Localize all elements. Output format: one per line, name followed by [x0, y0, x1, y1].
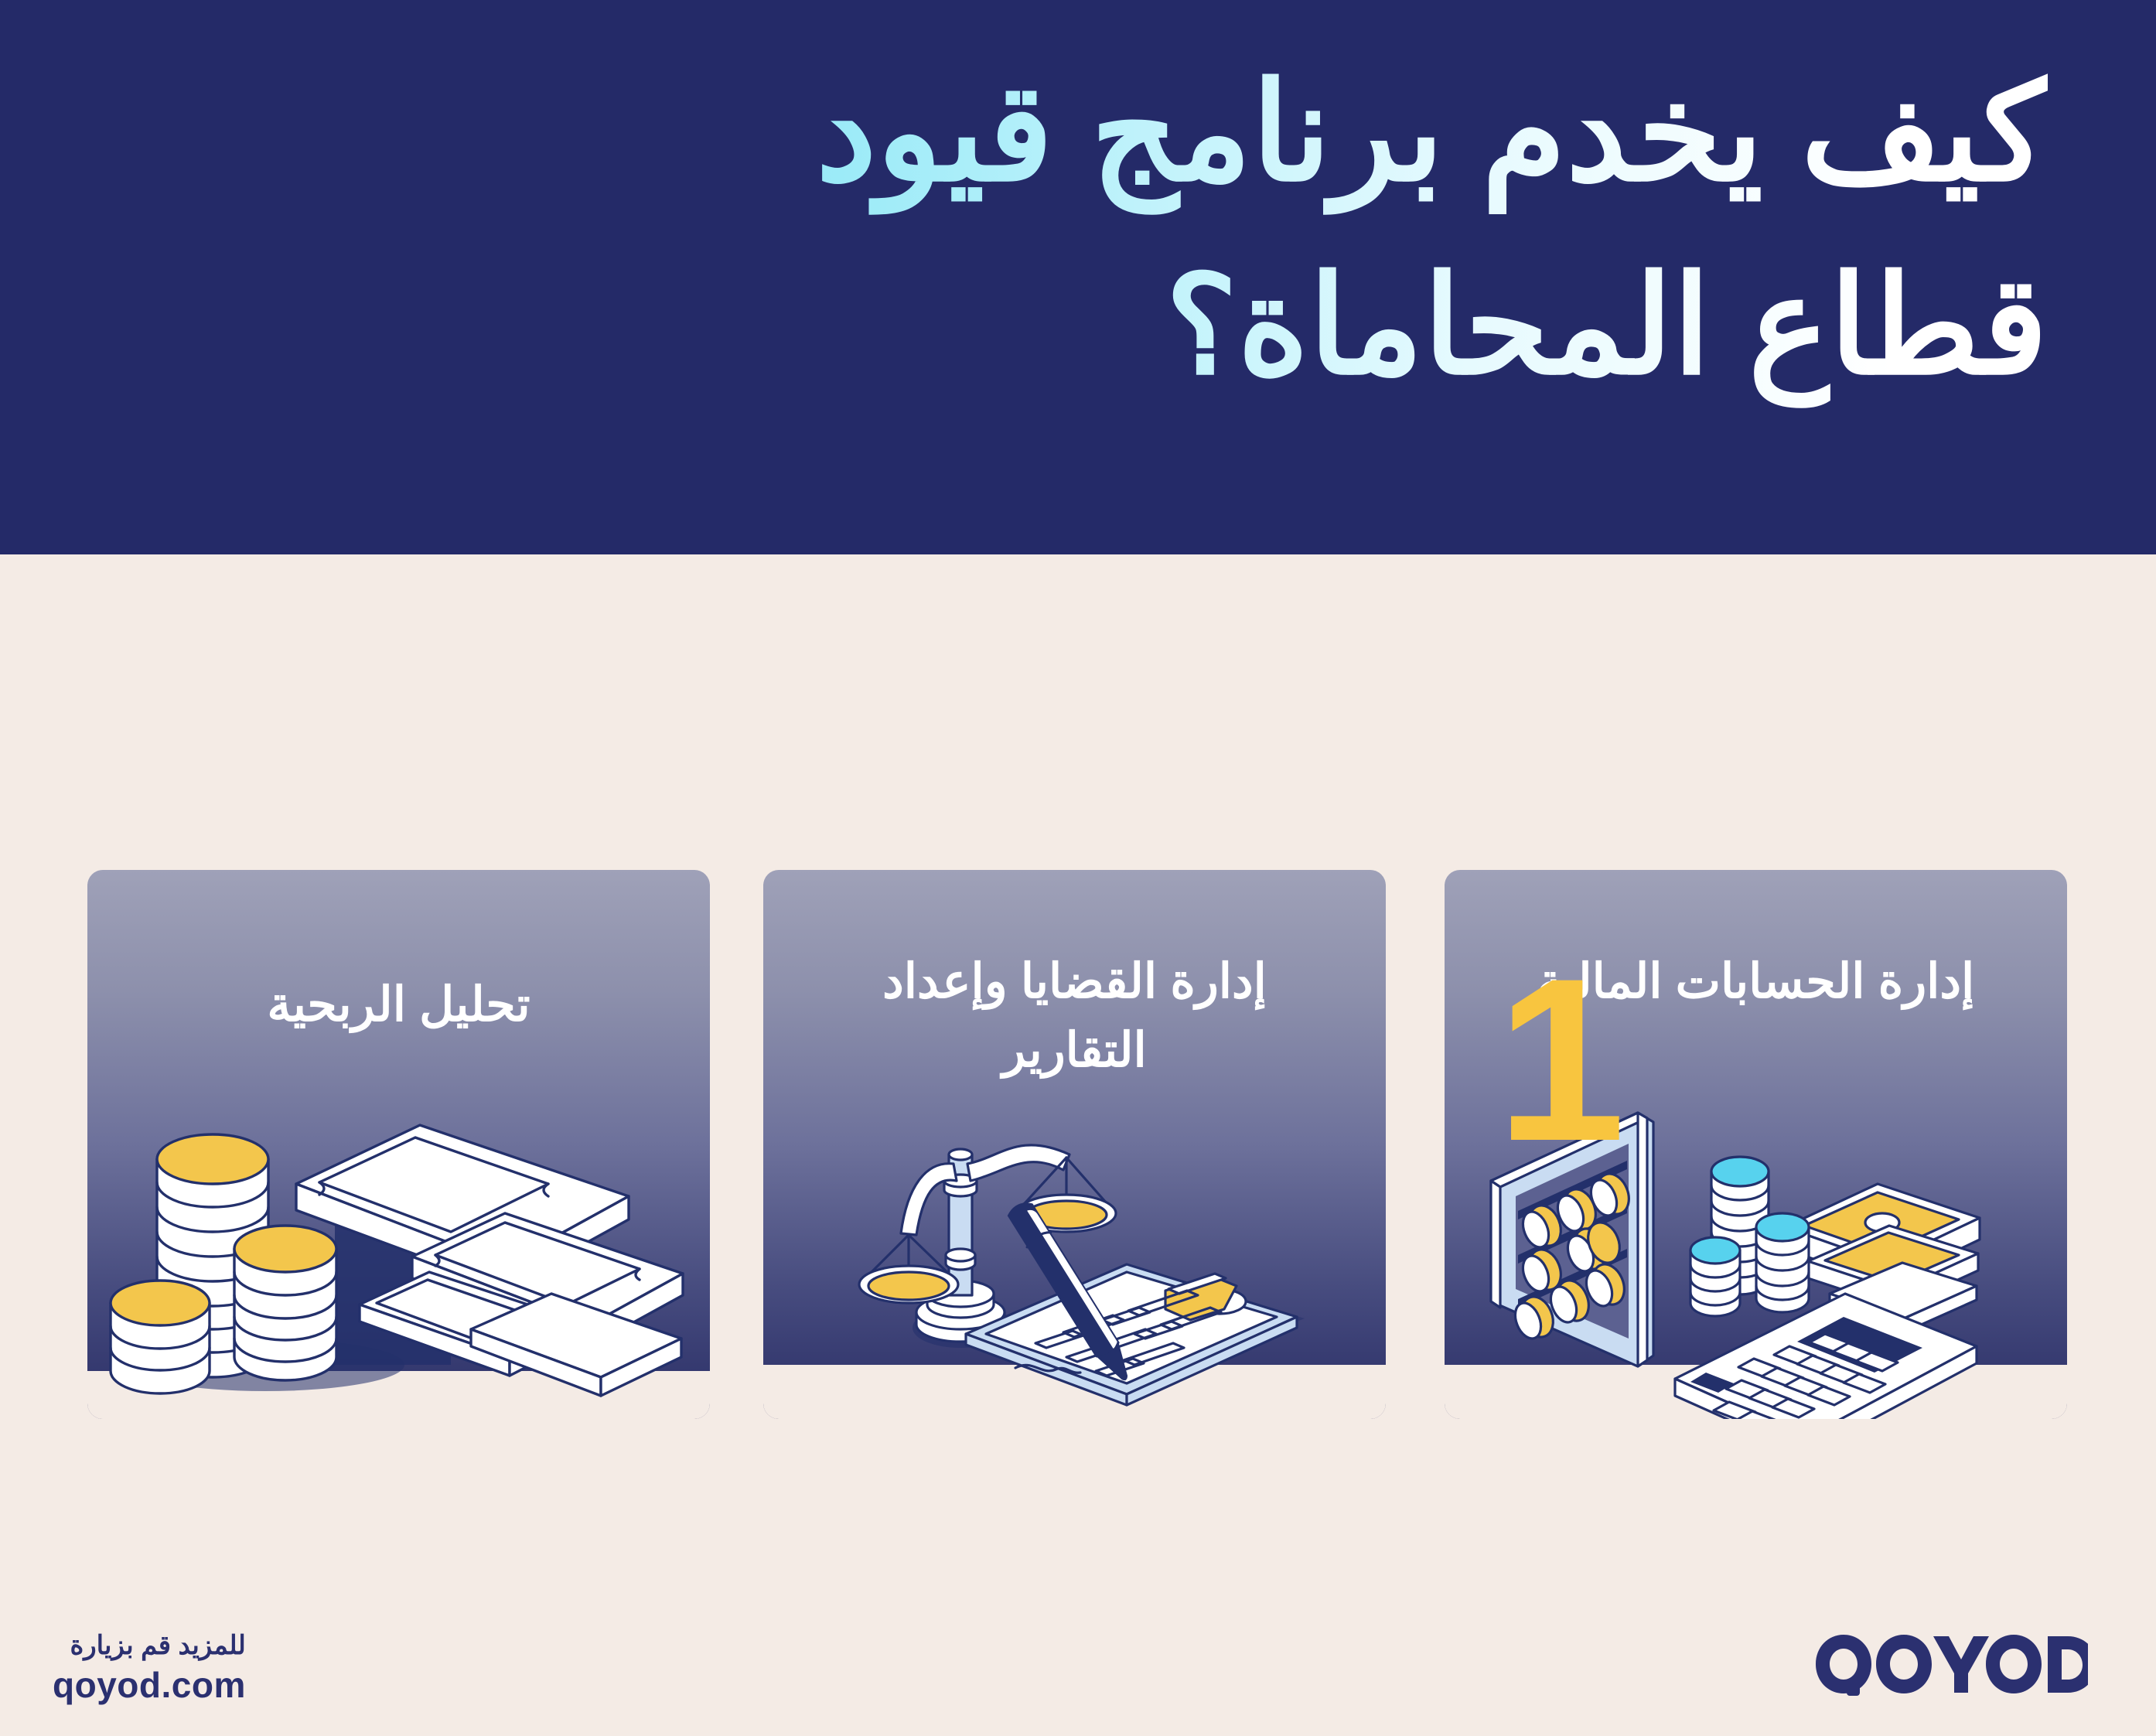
card-title-3: تحليل الربحية — [87, 970, 710, 1039]
feature-card-profitability-analysis[interactable]: تحليل الربحية .ln3{fill:none;stroke:#233… — [87, 870, 710, 1419]
card-title-2: إدارة القضايا وإعداد التقارير — [763, 947, 1386, 1086]
feature-card-case-management[interactable]: إدارة القضايا وإعداد التقارير .ln2{fill:… — [763, 870, 1386, 1419]
feature-card-financial-accounts[interactable]: إدارة الحسابات المالية .ln{fill:none;str… — [1445, 870, 2067, 1419]
cards-container: إدارة الحسابات المالية .ln{fill:none;str… — [0, 554, 2156, 1736]
card-number-1: 1 — [1496, 943, 1622, 1175]
page-title-line-1: كيف يخدم برنامج قيود — [114, 37, 2048, 230]
coin-stacks-cash-bundles-icon: .ln3{fill:none;stroke:#23306B;stroke-wid… — [87, 1110, 710, 1419]
justice-scales-clipboard-pen-icon: .ln2{fill:none;stroke:#23306B;stroke-wid… — [763, 1110, 1386, 1419]
footer-visit-block: للمزيد قم بزيارة qoyod.com — [53, 1629, 246, 1709]
footer-more-label: للمزيد قم بزيارة — [53, 1629, 246, 1663]
header-banner: كيف يخدم برنامج قيود قطاع المحاماة؟ — [0, 0, 2156, 554]
footer-website-link[interactable]: qoyod.com — [53, 1663, 246, 1709]
qoyod-logo[interactable] — [1810, 1630, 2088, 1704]
page-title-line-2: قطاع المحاماة؟ — [114, 230, 2048, 424]
header-title-block: كيف يخدم برنامج قيود قطاع المحاماة؟ — [114, 37, 2048, 424]
